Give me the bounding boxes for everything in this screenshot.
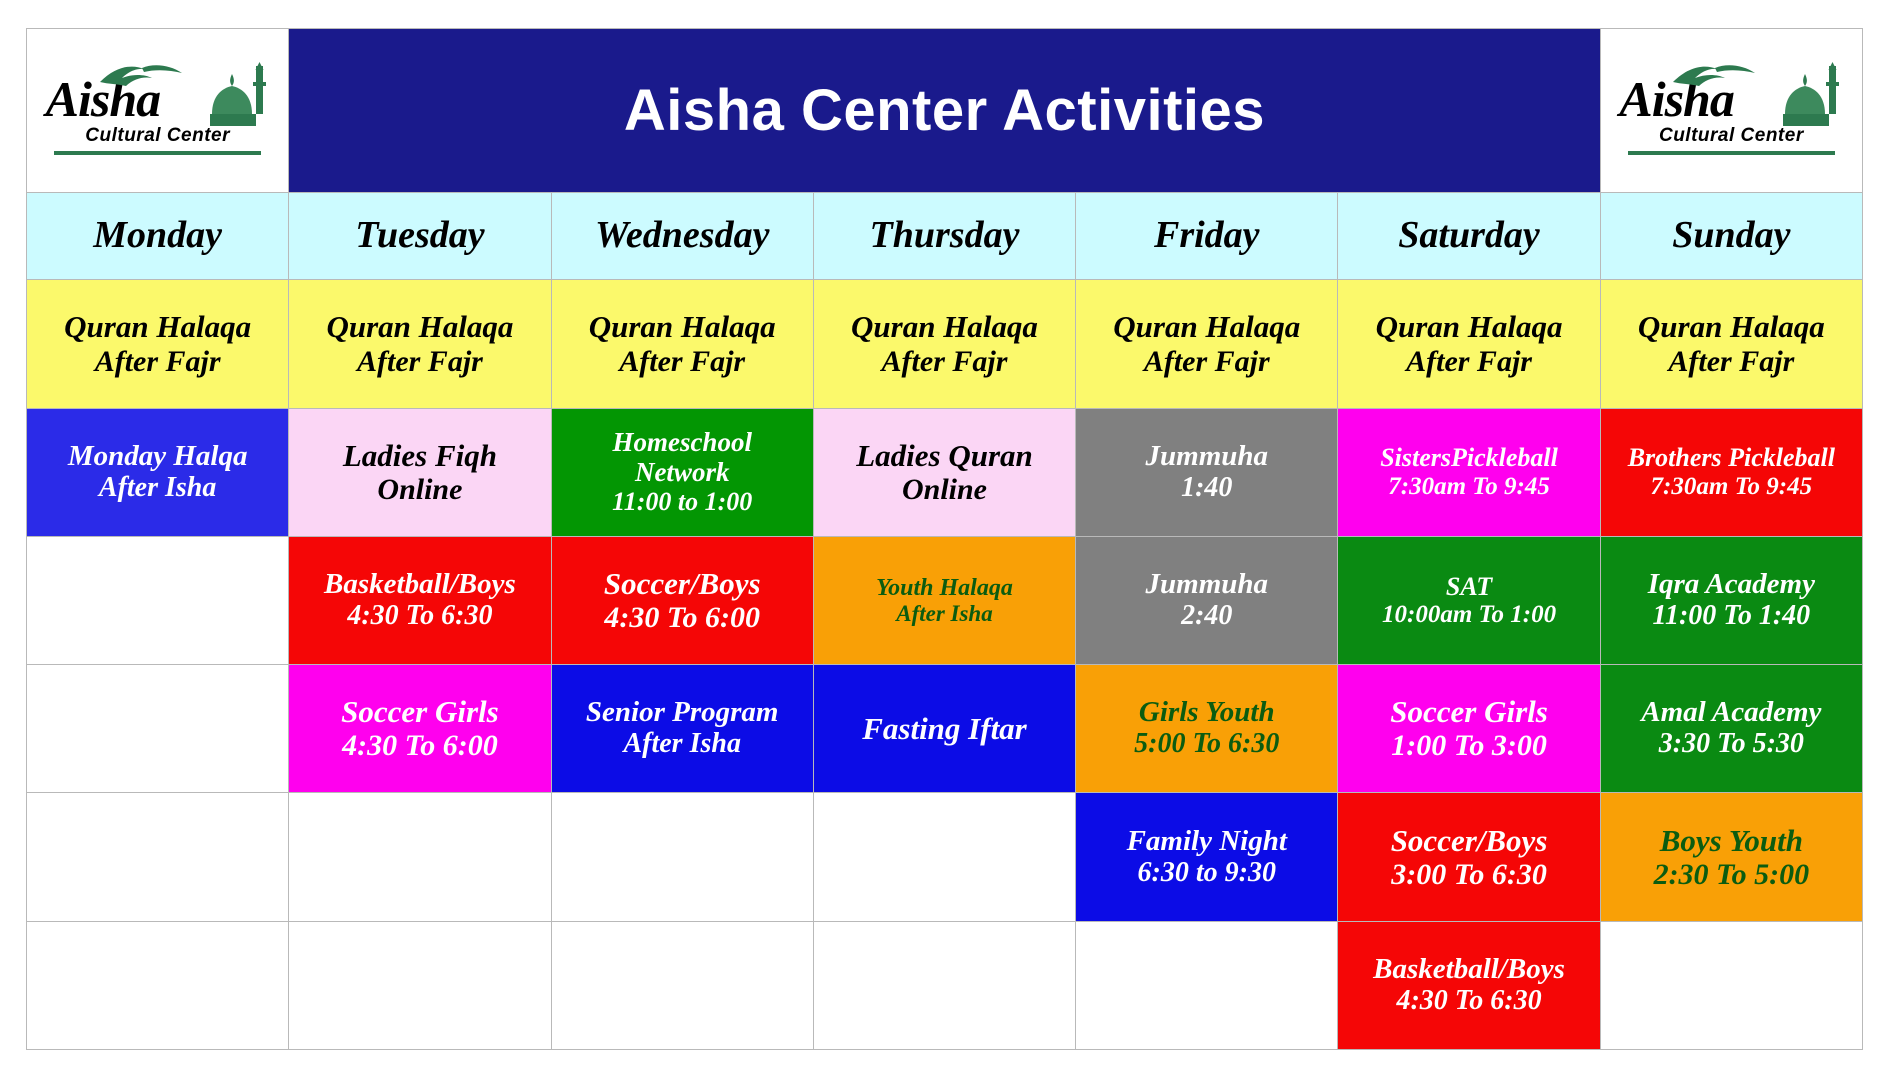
day-header-monday: Monday — [27, 193, 289, 280]
schedule-cell-sunday-0[interactable]: Quran HalaqaAfter Fajr — [1600, 280, 1862, 408]
schedule-cell-thursday-2[interactable]: Youth HalaqaAfter Isha — [813, 536, 1075, 664]
day-header-label: Saturday — [1398, 214, 1539, 256]
schedule-cell-thursday-0[interactable]: Quran HalaqaAfter Fajr — [813, 280, 1075, 408]
day-header-tuesday: Tuesday — [289, 193, 551, 280]
activity-line-l2: 3:00 To 6:30 — [1342, 858, 1595, 891]
schedule-row: Soccer Girls4:30 To 6:00Senior ProgramAf… — [27, 665, 1863, 793]
activity-line-l1: Youth Halaqa — [818, 575, 1071, 601]
schedule-row: Basketball/Boys4:30 To 6:30Soccer/Boys4:… — [27, 536, 1863, 664]
logo-top-left: Aisha — [38, 66, 278, 128]
mosque-icon — [1775, 62, 1849, 128]
activity-line-l1: Iqra Academy — [1605, 569, 1858, 601]
schedule-cell-saturday-0[interactable]: Quran HalaqaAfter Fajr — [1338, 280, 1600, 408]
activity-line-l1: Basketball/Boys — [293, 569, 546, 601]
activity-line-l2: After Fajr — [1080, 345, 1333, 378]
schedule-cell-saturday-3[interactable]: Soccer Girls1:00 To 3:00 — [1338, 665, 1600, 793]
activity-line-l1: Quran Halaqa — [1080, 310, 1333, 344]
schedule-body: Quran HalaqaAfter FajrQuran HalaqaAfter … — [27, 280, 1863, 1050]
schedule-row: Monday HalqaAfter IshaLadies FiqhOnlineH… — [27, 408, 1863, 536]
activity-line-l1: SistersPickleball — [1342, 444, 1595, 473]
schedule-cell-empty-wednesday — [551, 921, 813, 1049]
activity-line-l2: Online — [293, 473, 546, 506]
page-title: Aisha Center Activities — [293, 79, 1595, 143]
activity-line-l1: Monday Halqa — [31, 441, 284, 473]
schedule-cell-empty-monday — [27, 536, 289, 664]
activity-line-l2: After Fajr — [293, 345, 546, 378]
activity-line-l1: SAT — [1342, 573, 1595, 602]
activity-line-l1: Senior Program — [556, 697, 809, 729]
activity-line-l2: 2:40 — [1080, 601, 1333, 632]
activity-line-l2: Online — [818, 473, 1071, 506]
activity-line-l2: After Isha — [556, 729, 809, 760]
activity-line-l1: Ladies Fiqh — [293, 439, 546, 473]
schedule-cell-friday-2[interactable]: Jummuha2:40 — [1076, 536, 1338, 664]
day-header-sunday: Sunday — [1600, 193, 1862, 280]
activity-line-l1: Jummuha — [1080, 441, 1333, 473]
activity-line-l2: After Isha — [31, 473, 284, 504]
activity-line-l2: 10:00am To 1:00 — [1342, 601, 1595, 629]
activity-line-l3: 11:00 to 1:00 — [556, 488, 809, 517]
activity-line-l1: Quran Halaqa — [818, 310, 1071, 344]
schedule-cell-tuesday-1[interactable]: Ladies FiqhOnline — [289, 408, 551, 536]
day-header-row: MondayTuesdayWednesdayThursdayFridaySatu… — [27, 193, 1863, 280]
activity-line-l2: 3:30 To 5:30 — [1605, 729, 1858, 760]
activity-line-l2: After Fajr — [556, 345, 809, 378]
schedule-cell-tuesday-0[interactable]: Quran HalaqaAfter Fajr — [289, 280, 551, 408]
activity-line-l1: Quran Halaqa — [31, 310, 284, 344]
activity-line-l1: Soccer/Boys — [1342, 824, 1595, 858]
activity-line-l1: Brothers Pickleball — [1605, 444, 1858, 473]
activity-line-l1: Soccer/Boys — [556, 567, 809, 601]
activity-line-l1: Family Night — [1080, 826, 1333, 858]
schedule-cell-friday-0[interactable]: Quran HalaqaAfter Fajr — [1076, 280, 1338, 408]
bird-icon — [98, 64, 184, 90]
schedule-cell-empty-thursday — [813, 921, 1075, 1049]
activity-line-l2: After Isha — [818, 601, 1071, 626]
aisha-logo-left: Aisha — [38, 58, 278, 164]
activities-schedule-table: Aisha — [26, 28, 1863, 1050]
aisha-logo-right: Aisha — [1611, 58, 1851, 164]
day-header-thursday: Thursday — [813, 193, 1075, 280]
schedule-cell-monday-1[interactable]: Monday HalqaAfter Isha — [27, 408, 289, 536]
day-header-label: Wednesday — [595, 214, 770, 256]
schedule-cell-empty-monday — [27, 921, 289, 1049]
activity-line-l1: Boys Youth — [1605, 824, 1858, 858]
schedule-cell-empty-monday — [27, 665, 289, 793]
day-header-label: Friday — [1154, 214, 1260, 256]
schedule-page: Aisha — [0, 0, 1889, 1080]
schedule-cell-empty-wednesday — [551, 793, 813, 921]
day-header-friday: Friday — [1076, 193, 1338, 280]
schedule-cell-wednesday-3[interactable]: Senior ProgramAfter Isha — [551, 665, 813, 793]
logo-top-right: Aisha — [1611, 66, 1851, 128]
activity-line-l2: After Fajr — [1342, 345, 1595, 378]
logo-subtitle: Cultural Center — [1659, 126, 1804, 147]
activity-line-l2: 4:30 To 6:00 — [293, 729, 546, 762]
activity-line-l2: 5:00 To 6:30 — [1080, 729, 1333, 760]
activity-line-l1: Ladies Quran — [818, 439, 1071, 473]
activity-line-l1: Soccer Girls — [293, 695, 546, 729]
activity-line-l2: 4:30 To 6:30 — [1342, 986, 1595, 1017]
activity-line-l2: 11:00 To 1:40 — [1605, 601, 1858, 632]
logo-right-cell: Aisha — [1600, 29, 1862, 193]
schedule-cell-sunday-2[interactable]: Iqra Academy11:00 To 1:40 — [1600, 536, 1862, 664]
activity-line-l1: Amal Academy — [1605, 697, 1858, 729]
schedule-cell-friday-1[interactable]: Jummuha1:40 — [1076, 408, 1338, 536]
schedule-cell-saturday-5[interactable]: Basketball/Boys4:30 To 6:30 — [1338, 921, 1600, 1049]
day-header-label: Monday — [93, 214, 222, 256]
bird-icon — [1671, 64, 1757, 90]
schedule-cell-tuesday-3[interactable]: Soccer Girls4:30 To 6:00 — [289, 665, 551, 793]
activity-line-l1: Soccer Girls — [1342, 695, 1595, 729]
schedule-cell-empty-sunday — [1600, 921, 1862, 1049]
schedule-cell-thursday-1[interactable]: Ladies QuranOnline — [813, 408, 1075, 536]
schedule-row: Family Night6:30 to 9:30Soccer/Boys3:00 … — [27, 793, 1863, 921]
activity-line-l2: 4:30 To 6:00 — [556, 601, 809, 634]
activity-line-l1: Jummuha — [1080, 569, 1333, 601]
logo-underline — [1628, 151, 1834, 155]
activity-line-l1: Girls Youth — [1080, 697, 1333, 729]
activity-line-l2: 1:00 To 3:00 — [1342, 729, 1595, 762]
activity-line-l2: 2:30 To 5:00 — [1605, 858, 1858, 891]
activity-line-l2: After Fajr — [31, 345, 284, 378]
page-title-cell: Aisha Center Activities — [289, 29, 1600, 193]
logo-subtitle: Cultural Center — [85, 126, 230, 147]
schedule-cell-monday-0[interactable]: Quran HalaqaAfter Fajr — [27, 280, 289, 408]
schedule-cell-wednesday-2[interactable]: Soccer/Boys4:30 To 6:00 — [551, 536, 813, 664]
header-row: Aisha — [27, 29, 1863, 193]
schedule-cell-empty-tuesday — [289, 921, 551, 1049]
schedule-cell-empty-thursday — [813, 793, 1075, 921]
activity-line-l2: 7:30am To 9:45 — [1342, 473, 1595, 501]
activity-line-l2: 7:30am To 9:45 — [1605, 473, 1858, 501]
activity-line-l1: Quran Halaqa — [293, 310, 546, 344]
day-header-label: Thursday — [870, 214, 1020, 256]
activity-line-l1: Basketball/Boys — [1342, 954, 1595, 986]
schedule-cell-sunday-4[interactable]: Boys Youth2:30 To 5:00 — [1600, 793, 1862, 921]
schedule-cell-wednesday-0[interactable]: Quran HalaqaAfter Fajr — [551, 280, 813, 408]
schedule-cell-empty-monday — [27, 793, 289, 921]
day-header-saturday: Saturday — [1338, 193, 1600, 280]
activity-line-l1: Quran Halaqa — [1605, 310, 1858, 344]
activity-line-l2: 6:30 to 9:30 — [1080, 858, 1333, 889]
schedule-cell-tuesday-2[interactable]: Basketball/Boys4:30 To 6:30 — [289, 536, 551, 664]
day-header-label: Sunday — [1672, 214, 1790, 256]
mosque-icon — [202, 62, 276, 128]
activity-line-l2: After Fajr — [818, 345, 1071, 378]
schedule-cell-thursday-3[interactable]: Fasting Iftar — [813, 665, 1075, 793]
schedule-cell-saturday-1[interactable]: SistersPickleball7:30am To 9:45 — [1338, 408, 1600, 536]
schedule-row: Basketball/Boys4:30 To 6:30 — [27, 921, 1863, 1049]
schedule-cell-friday-3[interactable]: Girls Youth5:00 To 6:30 — [1076, 665, 1338, 793]
activity-line-l2: Network — [556, 458, 809, 488]
schedule-cell-saturday-2[interactable]: SAT10:00am To 1:00 — [1338, 536, 1600, 664]
day-header-wednesday: Wednesday — [551, 193, 813, 280]
schedule-cell-sunday-3[interactable]: Amal Academy3:30 To 5:30 — [1600, 665, 1862, 793]
day-header-label: Tuesday — [355, 214, 484, 256]
activity-line-l1: Homeschool — [556, 428, 809, 458]
activity-line-l1: Quran Halaqa — [556, 310, 809, 344]
activity-line-l2: 1:40 — [1080, 473, 1333, 504]
schedule-cell-empty-tuesday — [289, 793, 551, 921]
activity-line-l1: Fasting Iftar — [818, 712, 1071, 746]
schedule-cell-sunday-1[interactable]: Brothers Pickleball7:30am To 9:45 — [1600, 408, 1862, 536]
logo-underline — [54, 151, 260, 155]
schedule-cell-saturday-4[interactable]: Soccer/Boys3:00 To 6:30 — [1338, 793, 1600, 921]
schedule-row: Quran HalaqaAfter FajrQuran HalaqaAfter … — [27, 280, 1863, 408]
activity-line-l2: After Fajr — [1605, 345, 1858, 378]
activity-line-l1: Quran Halaqa — [1342, 310, 1595, 344]
schedule-cell-friday-4[interactable]: Family Night6:30 to 9:30 — [1076, 793, 1338, 921]
schedule-cell-wednesday-1[interactable]: HomeschoolNetwork11:00 to 1:00 — [551, 408, 813, 536]
schedule-cell-empty-friday — [1076, 921, 1338, 1049]
logo-left-cell: Aisha — [27, 29, 289, 193]
activity-line-l2: 4:30 To 6:30 — [293, 601, 546, 632]
